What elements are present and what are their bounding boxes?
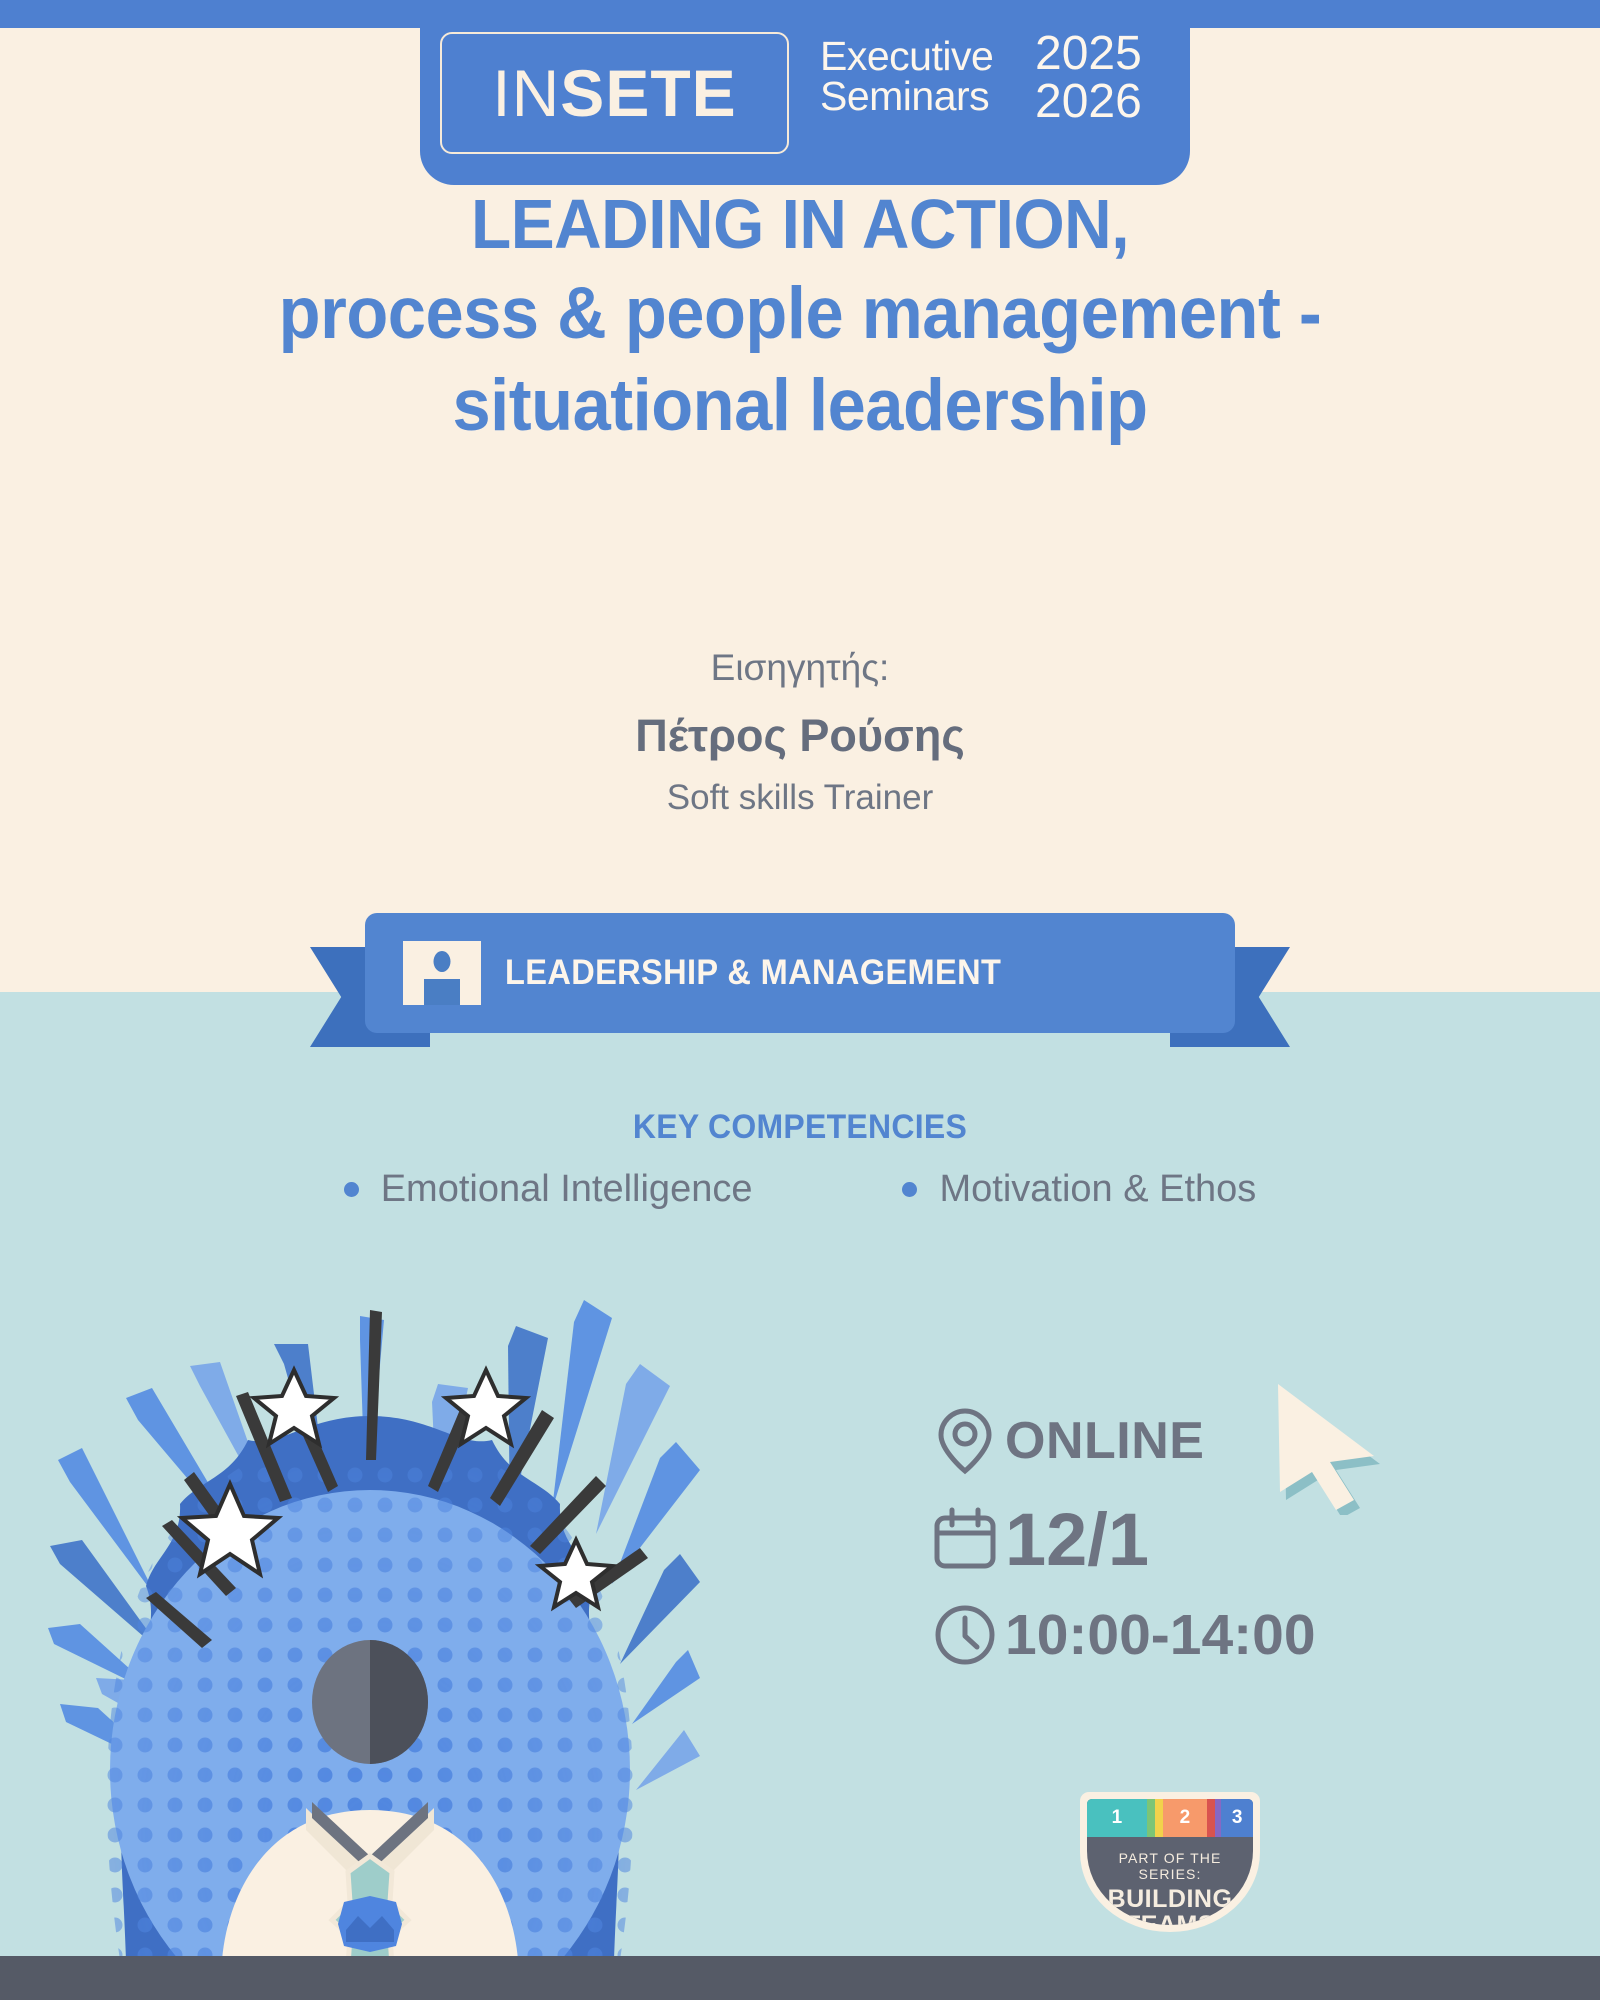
badge-segment-3: 3 xyxy=(1221,1799,1253,1837)
logo-prefix: IN xyxy=(492,56,560,130)
badge-series-label: PART OF THE SERIES: xyxy=(1087,1850,1253,1882)
event-details: ONLINE 12/1 10:00-14:00 xyxy=(925,1405,1316,1688)
page-title: LEADING IN ACTION, process & people mana… xyxy=(104,180,1495,452)
list-item: Motivation & Ethos xyxy=(902,1168,1256,1211)
speaker-label: Εισηγητής: xyxy=(0,640,1600,696)
year-line-2: 2026 xyxy=(1035,78,1142,126)
date-value: 12/1 xyxy=(1005,1497,1149,1582)
time-value: 10:00-14:00 xyxy=(1005,1602,1316,1668)
speaker-role: Soft skills Trainer xyxy=(0,773,1600,822)
year-line-1: 2025 xyxy=(1035,30,1142,78)
speaker-name: Πέτρος Ρούσης xyxy=(0,702,1600,770)
person-icon-body xyxy=(424,979,460,1005)
season-years: 2025 2026 xyxy=(1035,30,1142,126)
detail-location: ONLINE xyxy=(925,1405,1316,1477)
comic-burst-illustration xyxy=(40,1130,700,1960)
badge-divider-yellow xyxy=(1155,1799,1163,1837)
ribbon-body: LEADERSHIP & MANAGEMENT xyxy=(365,913,1235,1033)
person-icon xyxy=(403,941,481,1005)
badge-segment-2: 2 xyxy=(1163,1799,1206,1837)
competency-label: Motivation & Ethos xyxy=(939,1168,1256,1211)
badge-divider-purple xyxy=(1215,1799,1222,1837)
title-line-3: situational leadership xyxy=(104,360,1495,452)
clock-icon xyxy=(925,1603,1005,1667)
ribbon-label: LEADERSHIP & MANAGEMENT xyxy=(505,953,1001,993)
badge-segment-1: 1 xyxy=(1087,1799,1147,1837)
location-pin-icon xyxy=(925,1405,1005,1477)
bullet-icon xyxy=(902,1182,917,1197)
badge-divider-green xyxy=(1147,1799,1155,1837)
title-line-1: LEADING IN ACTION, xyxy=(104,180,1495,268)
category-ribbon: LEADERSHIP & MANAGEMENT xyxy=(310,895,1290,1055)
detail-date: 12/1 xyxy=(925,1497,1316,1582)
person-icon-head xyxy=(434,951,451,972)
badge-series-name-line-2: TEAMS xyxy=(1087,1913,1253,1926)
cursor-arrow-icon xyxy=(1268,1380,1393,1520)
series-badge: 1 2 3 PART OF THE SERIES: BUILDING TEAMS xyxy=(1080,1792,1260,1932)
seminar-poster: INSETE Executive Seminars 2025 2026 LEAD… xyxy=(0,0,1600,2000)
location-value: ONLINE xyxy=(1005,1411,1204,1471)
badge-segments: 1 2 3 xyxy=(1087,1799,1253,1837)
calendar-icon xyxy=(925,1505,1005,1575)
bottom-bar xyxy=(0,1956,1600,2000)
seminars-label: Executive Seminars xyxy=(820,36,993,116)
seminars-line-2: Seminars xyxy=(820,76,993,116)
badge-divider-red xyxy=(1207,1799,1215,1837)
seminars-line-1: Executive xyxy=(820,36,993,76)
insete-logo: INSETE xyxy=(440,32,789,154)
detail-time: 10:00-14:00 xyxy=(925,1602,1316,1668)
speaker-section: Εισηγητής: Πέτρος Ρούσης Soft skills Tra… xyxy=(0,640,1600,822)
title-line-2: process & people management - xyxy=(104,268,1495,360)
logo-bold: SETE xyxy=(560,56,736,130)
